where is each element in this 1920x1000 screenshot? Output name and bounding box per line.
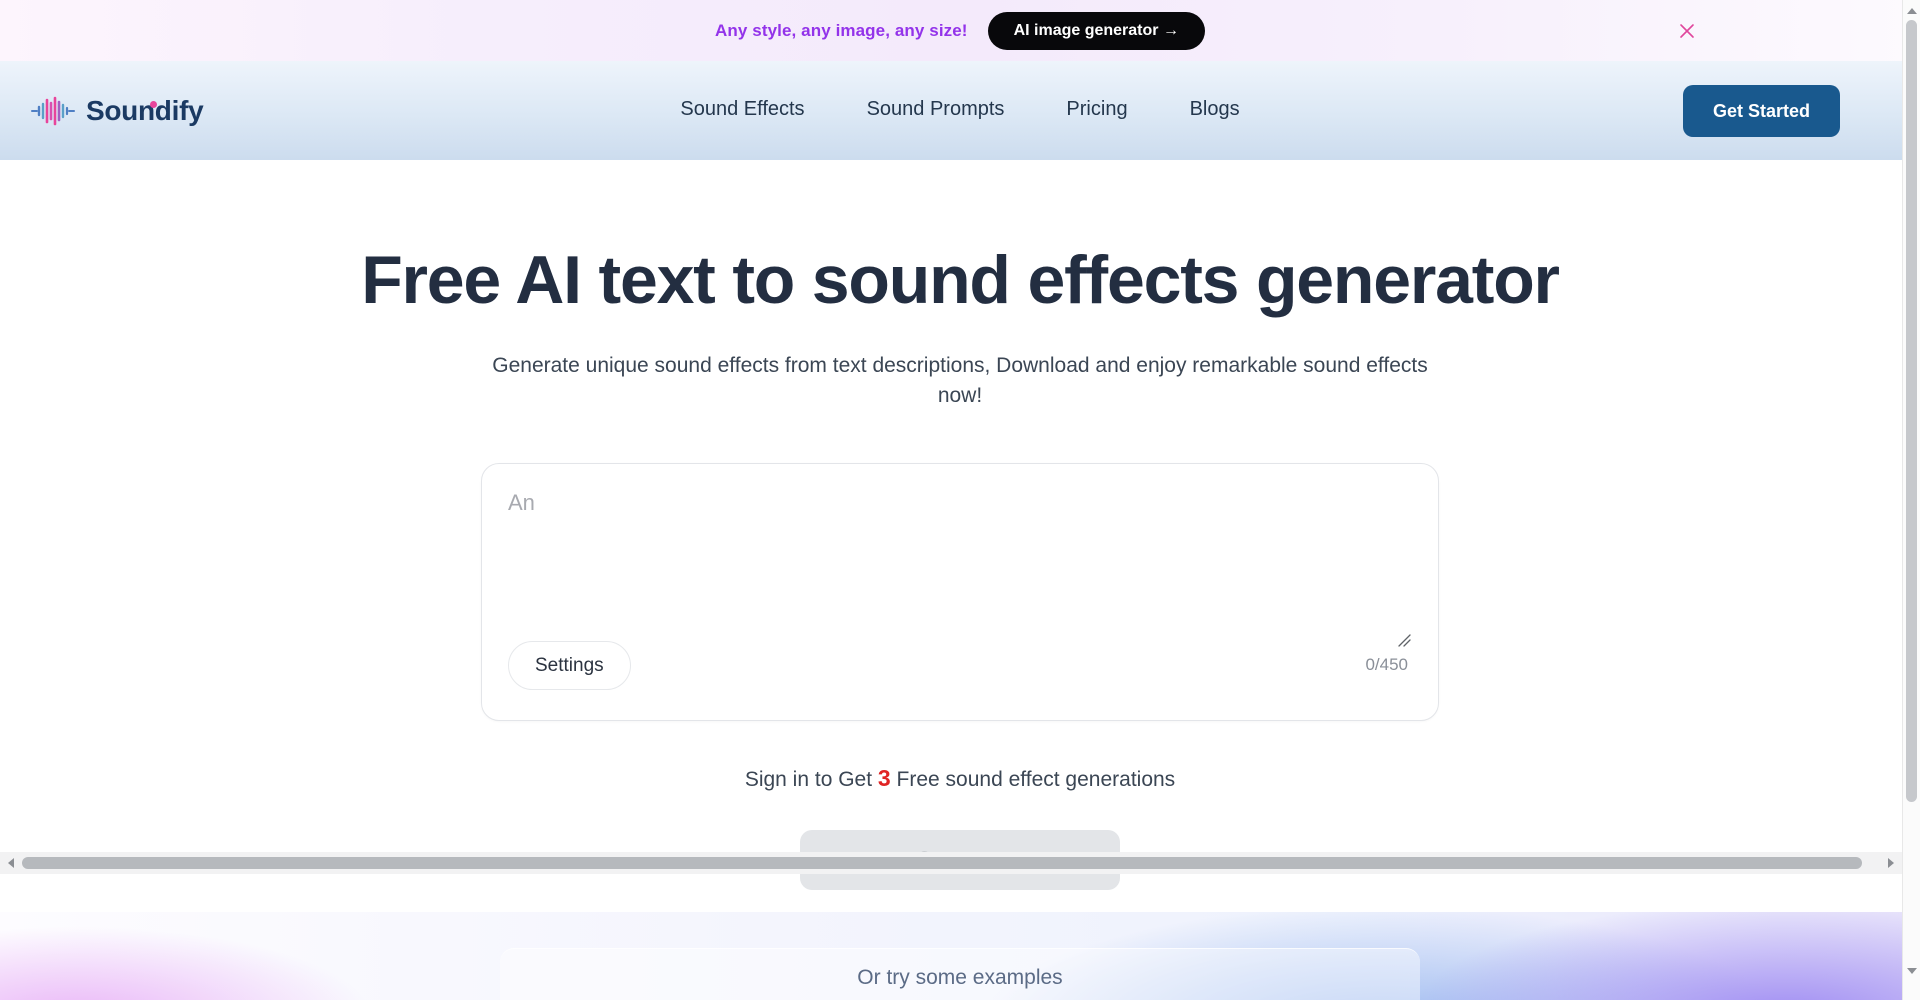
logo[interactable]: Soundify — [30, 95, 203, 127]
main-content: Free AI text to sound effects generator … — [0, 160, 1920, 890]
prompt-card-footer: Settings 0/450 — [482, 628, 1438, 720]
signin-free-count: 3 — [878, 765, 891, 791]
examples-section: Or try some examples — [0, 912, 1920, 1000]
main-nav: Sound Effects Sound Prompts Pricing Blog… — [680, 98, 1239, 121]
signin-suffix: Free sound effect generations — [897, 768, 1176, 791]
page-title: Free AI text to sound effects generator — [0, 244, 1920, 317]
vertical-scrollbar-thumb[interactable] — [1906, 20, 1917, 802]
get-started-button[interactable]: Get Started — [1683, 85, 1840, 137]
character-counter: 0/450 — [1365, 655, 1412, 675]
examples-panel: Or try some examples — [500, 948, 1420, 1000]
promo-banner: Any style, any image, any size! AI image… — [0, 0, 1920, 61]
scroll-arrow-up-icon[interactable] — [1903, 2, 1920, 20]
signin-prefix: Sign in to Get — [745, 768, 872, 791]
page-subtitle: Generate unique sound effects from text … — [480, 351, 1440, 411]
horizontal-scrollbar-thumb[interactable] — [22, 857, 1862, 869]
logo-wordmark: Soundify — [86, 95, 203, 126]
prompt-textarea[interactable]: An — [508, 492, 1412, 642]
nav-item-sound-effects[interactable]: Sound Effects — [680, 98, 804, 121]
close-icon[interactable] — [1676, 20, 1698, 42]
settings-button[interactable]: Settings — [508, 641, 631, 690]
vertical-scrollbar[interactable] — [1902, 0, 1920, 1000]
scroll-arrow-left-icon[interactable] — [3, 855, 19, 871]
horizontal-scrollbar[interactable] — [0, 852, 1902, 874]
scroll-arrow-right-icon[interactable] — [1883, 855, 1899, 871]
signin-promo-text: Sign in to Get 3 Free sound effect gener… — [0, 765, 1920, 792]
site-header: Soundify Sound Effects Sound Prompts Pri… — [0, 61, 1920, 160]
examples-label: Or try some examples — [857, 966, 1062, 990]
nav-item-blogs[interactable]: Blogs — [1190, 98, 1240, 121]
page-viewport: Any style, any image, any size! AI image… — [0, 0, 1920, 1000]
logo-accent-dot-icon — [150, 101, 157, 108]
ai-image-generator-button[interactable]: AI image generator → — [988, 12, 1205, 50]
prompt-card: An Settings 0/450 — [481, 463, 1439, 721]
nav-item-pricing[interactable]: Pricing — [1066, 98, 1127, 121]
prompt-placeholder: An — [508, 492, 1412, 514]
logo-text: Soundify — [86, 95, 203, 127]
nav-item-sound-prompts[interactable]: Sound Prompts — [867, 98, 1005, 121]
scroll-arrow-down-icon[interactable] — [1903, 962, 1920, 980]
promo-banner-text: Any style, any image, any size! — [715, 21, 968, 41]
waveform-icon — [30, 96, 76, 126]
